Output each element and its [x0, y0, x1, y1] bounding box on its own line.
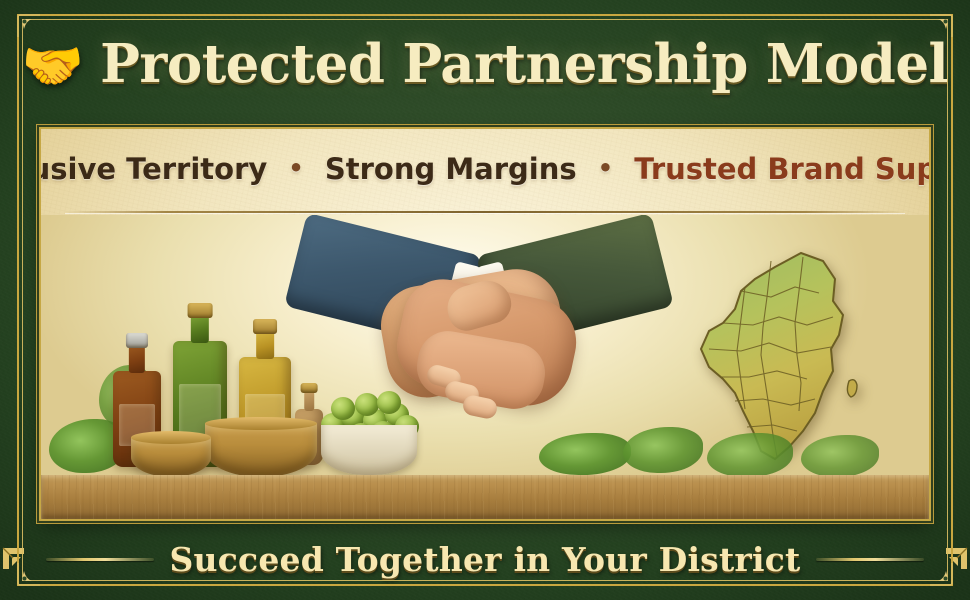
corner-flourish-icon	[940, 545, 970, 575]
benefit-exclusive-territory: Exclusive Territory	[41, 152, 267, 186]
bullet-separator: •	[598, 154, 613, 182]
benefit-strong-margins: Strong Margins	[325, 152, 577, 186]
benefit-trusted-brand-support: Trusted Brand Support	[634, 152, 929, 186]
subtitle: Exclusive Territory • Strong Margins • T…	[41, 152, 929, 186]
handshake-icon: 🤝	[22, 41, 84, 91]
wooden-table	[41, 475, 929, 519]
subtitle-divider	[65, 211, 905, 213]
footer-band: Succeed Together in Your District	[0, 519, 970, 600]
parchment-panel: Exclusive Territory • Strong Margins • T…	[41, 129, 929, 519]
bullet-separator: •	[288, 154, 303, 182]
scene-artwork	[41, 215, 929, 519]
footer-rule-right	[816, 558, 924, 561]
brass-bowl-large	[205, 423, 317, 477]
footer-tagline: Succeed Together in Your District	[170, 540, 801, 579]
brass-bowl-small	[131, 437, 211, 477]
footer-rule-left	[46, 558, 154, 561]
corner-flourish-icon	[0, 545, 30, 575]
subtitle-strip: Exclusive Territory • Strong Margins • T…	[41, 129, 929, 209]
poster-canvas: 🤝 Protected Partnership Model Exclusive …	[0, 0, 970, 600]
page-title: Protected Partnership Model	[100, 33, 948, 95]
product-still-life	[89, 275, 339, 485]
ceramic-basket	[321, 425, 417, 475]
title-band: 🤝 Protected Partnership Model	[0, 0, 970, 128]
